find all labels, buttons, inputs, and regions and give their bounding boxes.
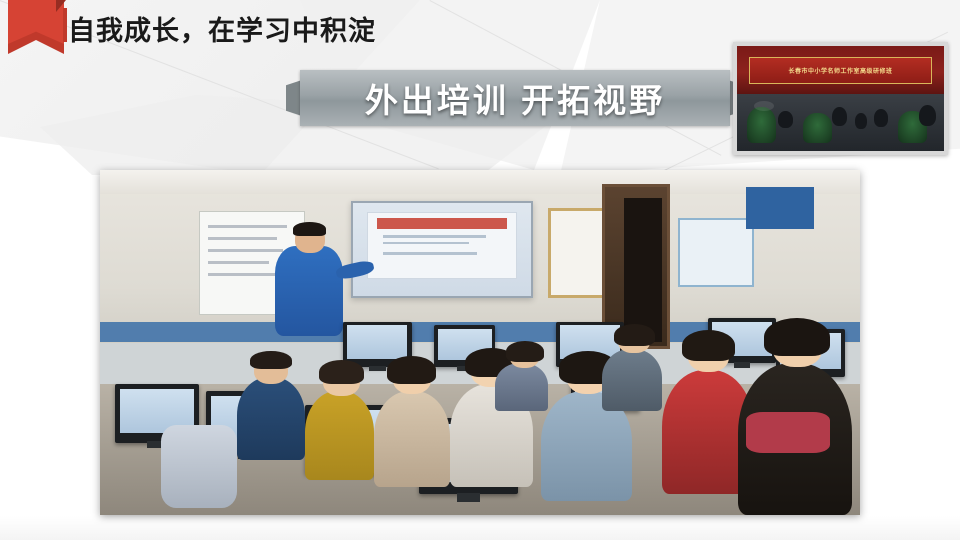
photo-slide-title-bar xyxy=(377,218,507,228)
page-title: 自我成长，在学习中积淀 xyxy=(68,9,376,48)
thumbnail-audience-head-5 xyxy=(919,105,936,126)
photo-presenter-hair xyxy=(293,222,326,236)
photo-slide-line-1 xyxy=(383,235,486,238)
bottom-gradient xyxy=(0,516,960,540)
photo-doc-line-1 xyxy=(208,225,287,228)
photo-bag-on-desk xyxy=(161,425,237,508)
thumbnail-banner-text: 长春市中小学名师工作室高级研修班 xyxy=(750,58,930,83)
computer-lab-training-photo xyxy=(100,170,860,515)
photo-doc-line-2 xyxy=(208,237,277,240)
thumbnail-plant-left xyxy=(747,107,776,143)
photo-doc-line-5 xyxy=(208,273,281,276)
photo-participant-6-hair xyxy=(682,330,735,361)
training-seminar-thumbnail: 长春市中小学名师工作室高级研修班 xyxy=(733,42,948,155)
thumbnail-audience-head-2 xyxy=(832,107,846,126)
photo-doc-line-3 xyxy=(208,249,283,252)
photo-door-opening xyxy=(624,198,662,343)
photo-participant-9-body xyxy=(495,363,548,411)
photo-notice-board-blue xyxy=(678,218,754,287)
photo-participant-3-body xyxy=(374,391,450,488)
thumbnail-audience-head-4 xyxy=(874,109,888,127)
thumbnail-audience-head-3 xyxy=(855,113,867,129)
headline-accent-bar xyxy=(63,8,67,42)
photo-participant-1-body xyxy=(237,377,305,460)
photo-slide-line-2 xyxy=(383,242,469,245)
photo-participant-8-body xyxy=(602,349,663,411)
slide-canvas: 自我成长，在学习中积淀 外出培训 开拓视野 长春市中小学名师工作室高级研修班 xyxy=(0,0,960,540)
photo-wall-poster xyxy=(746,187,814,228)
photo-participant-2-body xyxy=(305,391,373,481)
photo-participant-7-scarf xyxy=(746,412,830,453)
photo-participant-3-hair xyxy=(387,356,436,384)
thumbnail-light-spot xyxy=(754,101,775,112)
photo-projected-slide xyxy=(367,212,517,279)
photo-participant-7-hair xyxy=(764,318,829,356)
photo-participant-2-hair xyxy=(319,360,365,384)
photo-slide-line-3 xyxy=(383,252,478,255)
thumbnail-plant-mid xyxy=(803,113,832,142)
banner-title: 外出培训 开拓视野 xyxy=(300,70,730,126)
thumbnail-red-banner: 长春市中小学名师工作室高级研修班 xyxy=(749,57,931,84)
photo-participant-9-hair xyxy=(506,341,544,362)
photo-doc-line-4 xyxy=(208,261,269,264)
thumbnail-audience-head-1 xyxy=(778,111,792,128)
photo-participant-1-hair xyxy=(250,351,291,370)
photo-presenter-body xyxy=(275,246,343,336)
photo-participant-8-hair xyxy=(614,324,655,346)
photo-projection-screen xyxy=(351,201,533,298)
